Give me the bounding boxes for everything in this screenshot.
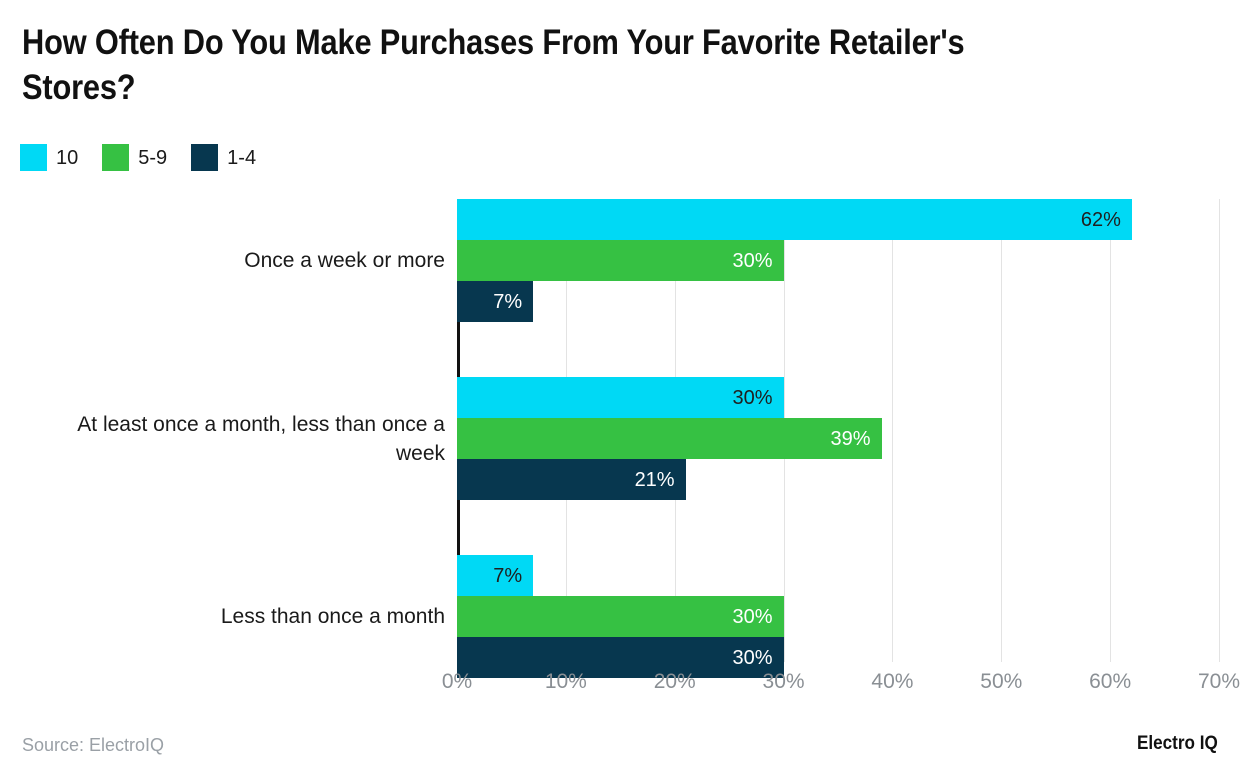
bar[interactable]: 7% [457,555,533,596]
bar-value-label: 39% [831,429,882,449]
category-label: Less than once a month [5,602,445,631]
bar[interactable]: 30% [457,596,784,637]
bar-value-label: 21% [635,470,686,490]
bar-value-label: 30% [733,388,784,408]
x-tick-label: 40% [871,670,913,694]
legend-swatch-5-9 [102,144,129,171]
legend-label-1-4: 1-4 [227,148,256,168]
legend-item-1-4[interactable]: 1-4 [191,144,256,171]
bar-value-label: 30% [733,648,784,668]
legend-item-5-9[interactable]: 5-9 [102,144,167,171]
bar[interactable]: 30% [457,637,784,678]
brand-logo: Electro IQ [1137,733,1218,755]
category-label: Once a week or more [5,246,445,275]
bar[interactable]: 7% [457,281,533,322]
bar[interactable]: 30% [457,240,784,281]
bar[interactable]: 62% [457,199,1132,240]
x-tick-label: 50% [980,670,1022,694]
page-title: How Often Do You Make Purchases From You… [22,20,1008,110]
legend-label-10: 10 [56,148,78,168]
x-tick-label: 20% [654,670,696,694]
x-tick-label: 10% [545,670,587,694]
bar[interactable]: 21% [457,459,686,500]
bar[interactable]: 30% [457,377,784,418]
bar[interactable]: 39% [457,418,882,459]
bar-group: 30%39%21% [457,377,1219,500]
x-tick-label: 0% [442,670,472,694]
gridline [1219,199,1220,662]
source-note: Source: ElectroIQ [22,735,164,756]
bar-value-label: 30% [733,607,784,627]
legend-swatch-1-4 [191,144,218,171]
legend-label-5-9: 5-9 [138,148,167,168]
bar-value-label: 7% [493,292,533,312]
x-tick-label: 60% [1089,670,1131,694]
bar-group: 7%30%30% [457,555,1219,678]
legend-item-10[interactable]: 10 [20,144,78,171]
category-label: At least once a month, less than once a … [5,410,445,468]
x-tick-label: 70% [1198,670,1240,694]
bar-value-label: 7% [493,566,533,586]
bar-group: 62%30%7% [457,199,1219,322]
legend-swatch-10 [20,144,47,171]
bar-value-label: 62% [1081,210,1132,230]
chart-plot-area: 62%30%7%30%39%21%7%30%30% [457,199,1219,662]
bar-value-label: 30% [733,251,784,271]
x-tick-label: 30% [763,670,805,694]
chart-legend: 10 5-9 1-4 [20,144,280,171]
